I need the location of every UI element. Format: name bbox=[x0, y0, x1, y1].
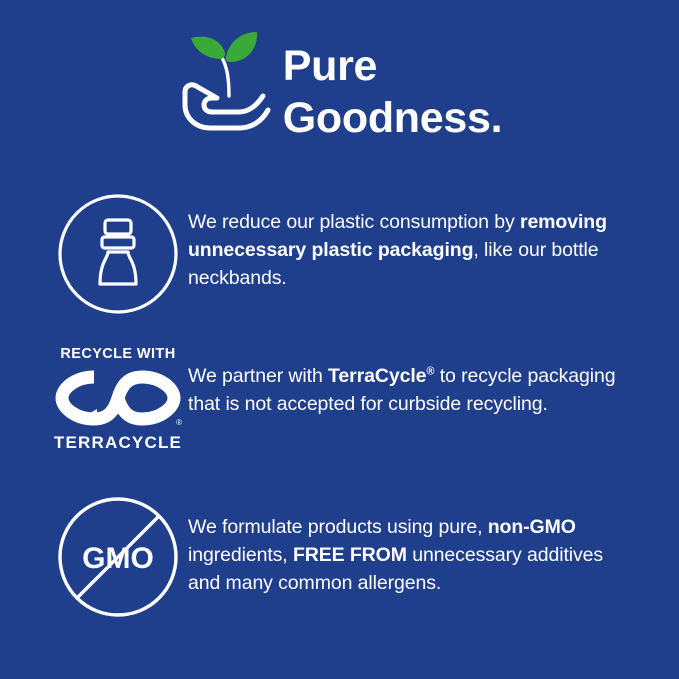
text-segment: ingredients, bbox=[188, 544, 293, 566]
title-line-2: Goodness. bbox=[283, 92, 503, 144]
pure-goodness-infographic: Pure Goodness. We reduce our plastic con… bbox=[0, 0, 679, 679]
text-segment-bold: TerraCycle bbox=[328, 365, 426, 387]
page-title: Pure Goodness. bbox=[283, 26, 503, 144]
benefit-row-plastic: We reduce our plastic consumption by rem… bbox=[48, 192, 618, 316]
text-segment: We reduce our plastic consumption by bbox=[188, 211, 520, 233]
terracycle-infinity-mark: ® bbox=[50, 367, 186, 429]
text-segment: We partner with bbox=[188, 365, 328, 387]
bottle-neckband-circle-icon bbox=[48, 192, 188, 316]
benefit-row-terracycle: RECYCLE WITH ® TERRACYCLE We partner wit… bbox=[48, 346, 618, 453]
terracycle-logo-icon: RECYCLE WITH ® TERRACYCLE bbox=[48, 346, 188, 453]
header: Pure Goodness. bbox=[0, 26, 679, 144]
terracycle-top-label: RECYCLE WITH bbox=[60, 346, 175, 362]
benefit-text-plastic: We reduce our plastic consumption by rem… bbox=[188, 192, 618, 292]
text-segment-bold: non-GMO bbox=[488, 516, 576, 538]
terracycle-logo-block: RECYCLE WITH ® TERRACYCLE bbox=[48, 346, 188, 453]
benefit-text-gmo: We formulate products using pure, non-GM… bbox=[188, 495, 618, 597]
text-segment-bold: FREE FROM bbox=[293, 544, 407, 566]
gmo-label: GMO bbox=[82, 542, 154, 575]
no-gmo-circle-icon: GMO bbox=[48, 495, 188, 619]
hand-holding-plant-icon bbox=[177, 26, 273, 134]
terracycle-bottom-label: TERRACYCLE bbox=[54, 433, 182, 453]
benefit-text-terracycle: We partner with TerraCycle® to recycle p… bbox=[188, 346, 618, 418]
text-segment: We formulate products using pure, bbox=[188, 516, 488, 538]
benefit-row-gmo: GMO We formulate products using pure, no… bbox=[48, 495, 618, 619]
terracycle-registered-mark: ® bbox=[176, 418, 182, 427]
title-line-1: Pure bbox=[283, 42, 377, 90]
